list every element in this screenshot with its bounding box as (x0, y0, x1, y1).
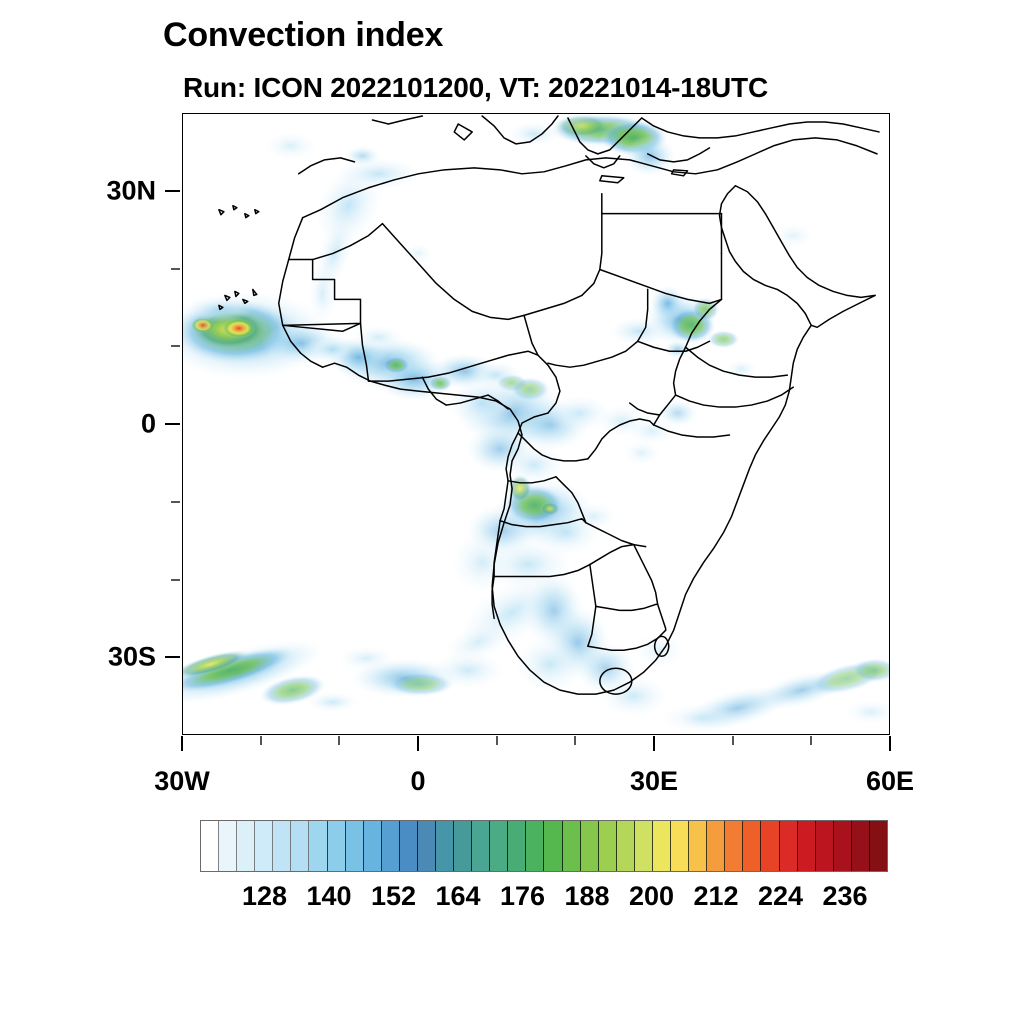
x-tick--20 (260, 736, 262, 745)
colorbar-cell-5 (291, 821, 309, 871)
colorbar-cell-22 (599, 821, 617, 871)
colorbar-cell-30 (743, 821, 761, 871)
colorbar-label-152: 152 (371, 881, 416, 912)
colorbar-label-188: 188 (564, 881, 609, 912)
y-tick--10 (171, 501, 180, 503)
colorbar-cell-12 (418, 821, 436, 871)
y-tick-label-0: 0 (141, 409, 156, 440)
colorbar-cell-31 (761, 821, 779, 871)
colorbar-cell-18 (526, 821, 544, 871)
subtitle-run-validtime: Run: ICON 2022101200, VT: 20221014-18UTC (183, 72, 768, 104)
x-tick-label-30E: 30E (630, 766, 678, 797)
colorbar-cell-16 (490, 821, 508, 871)
colorbar-cell-4 (273, 821, 291, 871)
y-tick-30 (165, 190, 180, 192)
colorbar-cell-11 (400, 821, 418, 871)
colorbar-cell-36 (852, 821, 870, 871)
y-tick--30 (165, 656, 180, 658)
field-sahara-streak (265, 132, 421, 323)
colorbar-cell-1 (219, 821, 237, 871)
colorbar-cell-15 (472, 821, 490, 871)
colorbar-cell-9 (364, 821, 382, 871)
colorbar-cell-10 (382, 821, 400, 871)
colorbar-label-224: 224 (758, 881, 803, 912)
colorbar-cell-26 (671, 821, 689, 871)
colorbar-cell-20 (563, 821, 581, 871)
colorbar-cell-27 (689, 821, 707, 871)
colorbar-cell-33 (798, 821, 816, 871)
colorbar-cell-7 (328, 821, 346, 871)
map-canvas (183, 114, 889, 734)
colorbar[interactable] (200, 820, 888, 872)
colorbar-cell-2 (237, 821, 255, 871)
colorbar-cell-23 (617, 821, 635, 871)
colorbar-label-236: 236 (822, 881, 867, 912)
y-tick-label-30S: 30S (108, 642, 156, 673)
x-tick--30 (181, 736, 183, 751)
x-tick-20 (574, 736, 576, 745)
colorbar-cell-25 (653, 821, 671, 871)
field-sw-indian-ocean (662, 655, 889, 734)
page-title: Convection index (163, 16, 443, 55)
colorbar-cell-35 (834, 821, 852, 871)
colorbar-cell-0 (201, 821, 219, 871)
colorbar-cell-17 (508, 821, 526, 871)
x-tick-label-30W: 30W (154, 766, 210, 797)
y-tick-0 (165, 423, 180, 425)
colorbar-label-176: 176 (500, 881, 545, 912)
colorbar-cell-6 (309, 821, 327, 871)
x-tick-10 (496, 736, 498, 745)
colorbar-cell-37 (870, 821, 887, 871)
colorbar-cell-14 (454, 821, 472, 871)
colorbar-cell-24 (635, 821, 653, 871)
colorbar-label-140: 140 (306, 881, 351, 912)
y-tick--20 (171, 579, 180, 581)
y-tick-20 (171, 268, 180, 270)
x-tick-label-60E: 60E (866, 766, 914, 797)
x-tick-60 (889, 736, 891, 751)
colorbar-cell-32 (780, 821, 798, 871)
x-tick--10 (338, 736, 340, 745)
colorbar-cell-19 (544, 821, 562, 871)
map-plot-area[interactable] (182, 113, 890, 735)
colorbar-cell-8 (346, 821, 364, 871)
colorbar-label-164: 164 (435, 881, 480, 912)
y-tick-10 (171, 345, 180, 347)
figure-canvas: Convection index Run: ICON 2022101200, V… (0, 0, 1024, 1024)
x-tick-30 (653, 736, 655, 751)
colorbar-label-200: 200 (629, 881, 674, 912)
x-tick-label-0: 0 (410, 766, 425, 797)
convection-index-field (183, 114, 889, 734)
x-tick-50 (810, 736, 812, 745)
colorbar-cell-3 (255, 821, 273, 871)
colorbar-cell-29 (725, 821, 743, 871)
colorbar-cell-21 (581, 821, 599, 871)
colorbar-label-128: 128 (242, 881, 287, 912)
colorbar-cell-34 (816, 821, 834, 871)
x-tick-40 (732, 736, 734, 745)
colorbar-cell-28 (707, 821, 725, 871)
colorbar-label-212: 212 (693, 881, 738, 912)
field-congo-basin (448, 377, 697, 485)
y-tick-label-30N: 30N (106, 175, 156, 206)
x-tick-0 (417, 736, 419, 751)
colorbar-cell-13 (436, 821, 454, 871)
